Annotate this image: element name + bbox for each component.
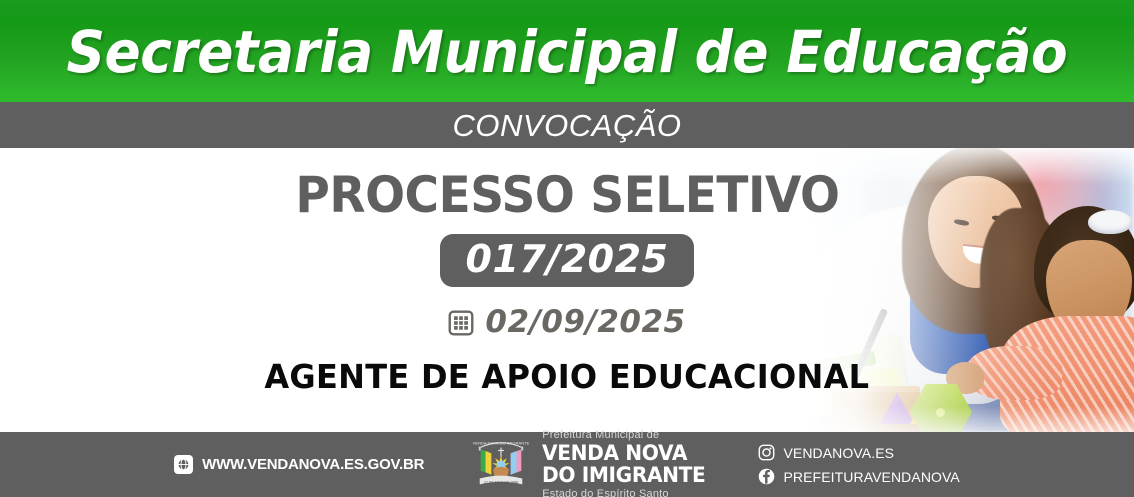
- page-title: Secretaria Municipal de Educação: [67, 23, 1068, 81]
- content-area: PROCESSO SELETIVO 017/2025 02/09/: [0, 148, 1134, 432]
- website-row[interactable]: WWW.VENDANOVA.ES.GOV.BR: [174, 455, 424, 474]
- process-number-badge: 017/2025: [440, 234, 695, 287]
- website-text: WWW.VENDANOVA.ES.GOV.BR: [202, 456, 424, 473]
- brand-line-1: VENDA NOVA: [542, 443, 705, 464]
- svg-text:27 DE MAIO DE 1988: 27 DE MAIO DE 1988: [484, 480, 518, 484]
- footer-inner: WWW.VENDANOVA.ES.GOV.BR VENDA NOVA DO IM…: [0, 430, 1134, 497]
- subtitle-band: CONVOCAÇÃO: [0, 102, 1134, 148]
- event-date: 02/09/2025: [485, 307, 685, 338]
- globe-icon: [174, 455, 193, 474]
- brand-line-2: DO IMIGRANTE: [542, 465, 705, 486]
- role-title: AGENTE DE APOIO EDUCACIONAL: [265, 360, 870, 393]
- social-links: VENDANOVA.ES PREFEITURAVENDANOVA: [758, 444, 959, 485]
- facebook-row[interactable]: PREFEITURAVENDANOVA: [758, 468, 959, 485]
- facebook-icon: [758, 468, 775, 485]
- footer-band: WWW.VENDANOVA.ES.GOV.BR VENDA NOVA DO IM…: [0, 432, 1134, 497]
- date-row: 02/09/2025: [448, 307, 685, 338]
- convocation-banner: Secretaria Municipal de Educação CONVOCA…: [0, 0, 1134, 497]
- city-brand-text: Prefeitura Municipal de VENDA NOVA DO IM…: [542, 430, 712, 497]
- process-title: PROCESSO SELETIVO: [295, 170, 839, 220]
- instagram-icon: [758, 444, 775, 461]
- header-band: Secretaria Municipal de Educação: [0, 0, 1134, 102]
- svg-text:VENDA NOVA DO IMIGRANTE: VENDA NOVA DO IMIGRANTE: [473, 440, 530, 445]
- brand-prefix: Prefeitura Municipal de: [542, 430, 712, 441]
- facebook-handle: PREFEITURAVENDANOVA: [783, 469, 959, 485]
- instagram-handle: VENDANOVA.ES: [783, 445, 894, 461]
- instagram-row[interactable]: VENDANOVA.ES: [758, 444, 959, 461]
- process-number-text: 017/2025: [466, 237, 669, 281]
- subtitle-text: CONVOCAÇÃO: [453, 110, 682, 141]
- calendar-icon: [448, 310, 474, 336]
- announcement-stack: PROCESSO SELETIVO 017/2025 02/09/: [0, 148, 1134, 432]
- brand-state: Estado do Espírito Santo: [542, 489, 712, 497]
- coat-of-arms-icon: VENDA NOVA DO IMIGRANTE 27 DE MA: [470, 436, 532, 494]
- city-brand: VENDA NOVA DO IMIGRANTE 27 DE MA: [470, 430, 712, 497]
